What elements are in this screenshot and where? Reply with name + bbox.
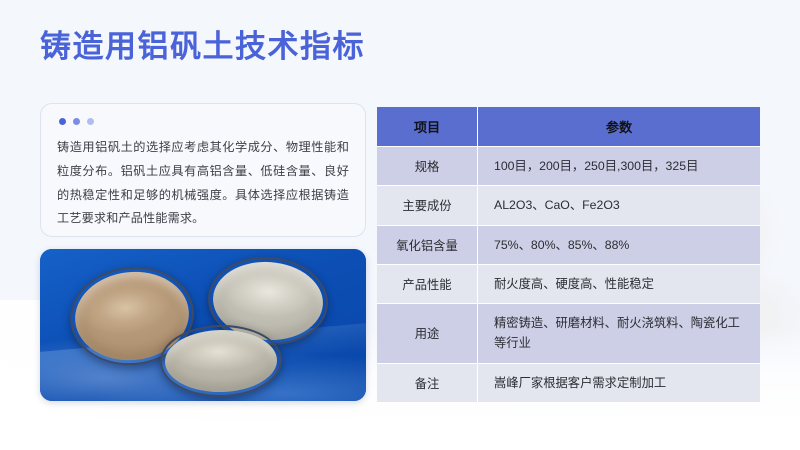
powder-light-gray [164,329,277,393]
spec-table-head: 项目 参数 [377,107,760,147]
row-item-value: 100目，200目，250目,300目，325目 [478,147,760,186]
table-row: 产品性能 耐火度高、硬度高、性能稳定 [377,265,760,304]
spec-table-body: 规格 100目，200目，250目,300目，325目 主要成份 AL2O3、C… [377,147,760,403]
left-column: 铸造用铝矾土的选择应考虑其化学成分、物理性能和粒度分布。铝矾土应具有高铝含量、低… [40,103,366,401]
dot-medium-icon [73,118,80,125]
row-item-value: 75%、80%、85%、88% [478,226,760,265]
dot-light-icon [87,118,94,125]
table-row: 氧化铝含量 75%、80%、85%、88% [377,226,760,265]
row-item-label: 备注 [377,364,478,403]
table-row: 主要成份 AL2O3、CaO、Fe2O3 [377,186,760,225]
page-title: 铸造用铝矾土技术指标 [40,28,365,67]
table-row: 用途 精密铸造、研磨材料、耐火浇筑料、陶瓷化工等行业 [377,304,760,364]
card-dots [57,118,349,125]
row-item-value: 精密铸造、研磨材料、耐火浇筑料、陶瓷化工等行业 [478,304,760,364]
table-row: 备注 嵩峰厂家根据客户需求定制加工 [377,364,760,403]
row-item-label: 氧化铝含量 [377,226,478,265]
column-header-item: 项目 [377,107,478,147]
row-item-label: 规格 [377,147,478,186]
description-card: 铸造用铝矾土的选择应考虑其化学成分、物理性能和粒度分布。铝矾土应具有高铝含量、低… [40,103,366,237]
description-text: 铸造用铝矾土的选择应考虑其化学成分、物理性能和粒度分布。铝矾土应具有高铝含量、低… [57,136,349,231]
row-item-value: AL2O3、CaO、Fe2O3 [478,186,760,225]
row-item-label: 用途 [377,304,478,364]
row-item-label: 产品性能 [377,265,478,304]
table-header-row: 项目 参数 [377,107,760,147]
spec-table: 项目 参数 规格 100目，200目，250目,300目，325目 主要成份 A… [377,107,760,403]
row-item-value: 耐火度高、硬度高、性能稳定 [478,265,760,304]
row-item-label: 主要成份 [377,186,478,225]
product-photo [40,249,366,401]
row-item-value: 嵩峰厂家根据客户需求定制加工 [478,364,760,403]
column-header-param: 参数 [478,107,760,147]
table-row: 规格 100目，200目，250目,300目，325目 [377,147,760,186]
dot-strong-icon [59,118,66,125]
